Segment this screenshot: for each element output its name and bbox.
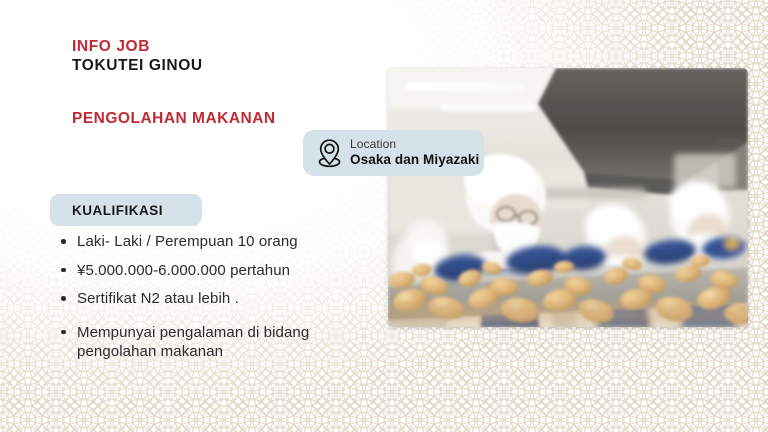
qualifications-badge: KUALIFIKASI: [50, 194, 202, 226]
bullet-dot: [61, 239, 66, 244]
location-text-group: Location Osaka dan Miyazaki: [350, 137, 479, 169]
list-item: Sertifikat N2 atau lebih .: [58, 289, 368, 309]
list-item: Laki- Laki / Perempuan 10 orang: [58, 232, 368, 252]
location-badge: Location Osaka dan Miyazaki: [303, 130, 484, 176]
qualifications-badge-label: KUALIFIKASI: [72, 203, 163, 218]
list-item-text: ¥5.000.000-6.000.000 pertahun: [77, 262, 290, 279]
map-pin-icon: [316, 138, 343, 168]
slide-canvas: INFO JOB TOKUTEI GINOU PENGOLAHAN MAKANA…: [0, 0, 768, 432]
list-item-text: Sertifikat N2 atau lebih .: [77, 290, 239, 307]
list-item: ¥5.000.000-6.000.000 pertahun: [58, 261, 368, 281]
header-info-job: INFO JOB: [72, 38, 203, 57]
qualifications-list: Laki- Laki / Perempuan 10 orang ¥5.000.0…: [58, 232, 368, 371]
bullet-dot: [61, 296, 66, 301]
location-value: Osaka dan Miyazaki: [350, 152, 479, 169]
title-block: INFO JOB TOKUTEI GINOU: [72, 38, 203, 76]
food-factory-photo: [388, 68, 748, 327]
list-item-text: Mempunyai pengalaman di bidang pengolaha…: [77, 324, 309, 361]
job-field-title: PENGOLAHAN MAKANAN: [72, 110, 276, 128]
list-item-text: Laki- Laki / Perempuan 10 orang: [77, 233, 298, 250]
header-tokutei-ginou: TOKUTEI GINOU: [72, 57, 203, 76]
bullet-dot: [61, 268, 66, 273]
location-label: Location: [350, 137, 479, 152]
bullet-dot: [61, 330, 66, 335]
list-item: Mempunyai pengalaman di bidang pengolaha…: [58, 323, 368, 362]
